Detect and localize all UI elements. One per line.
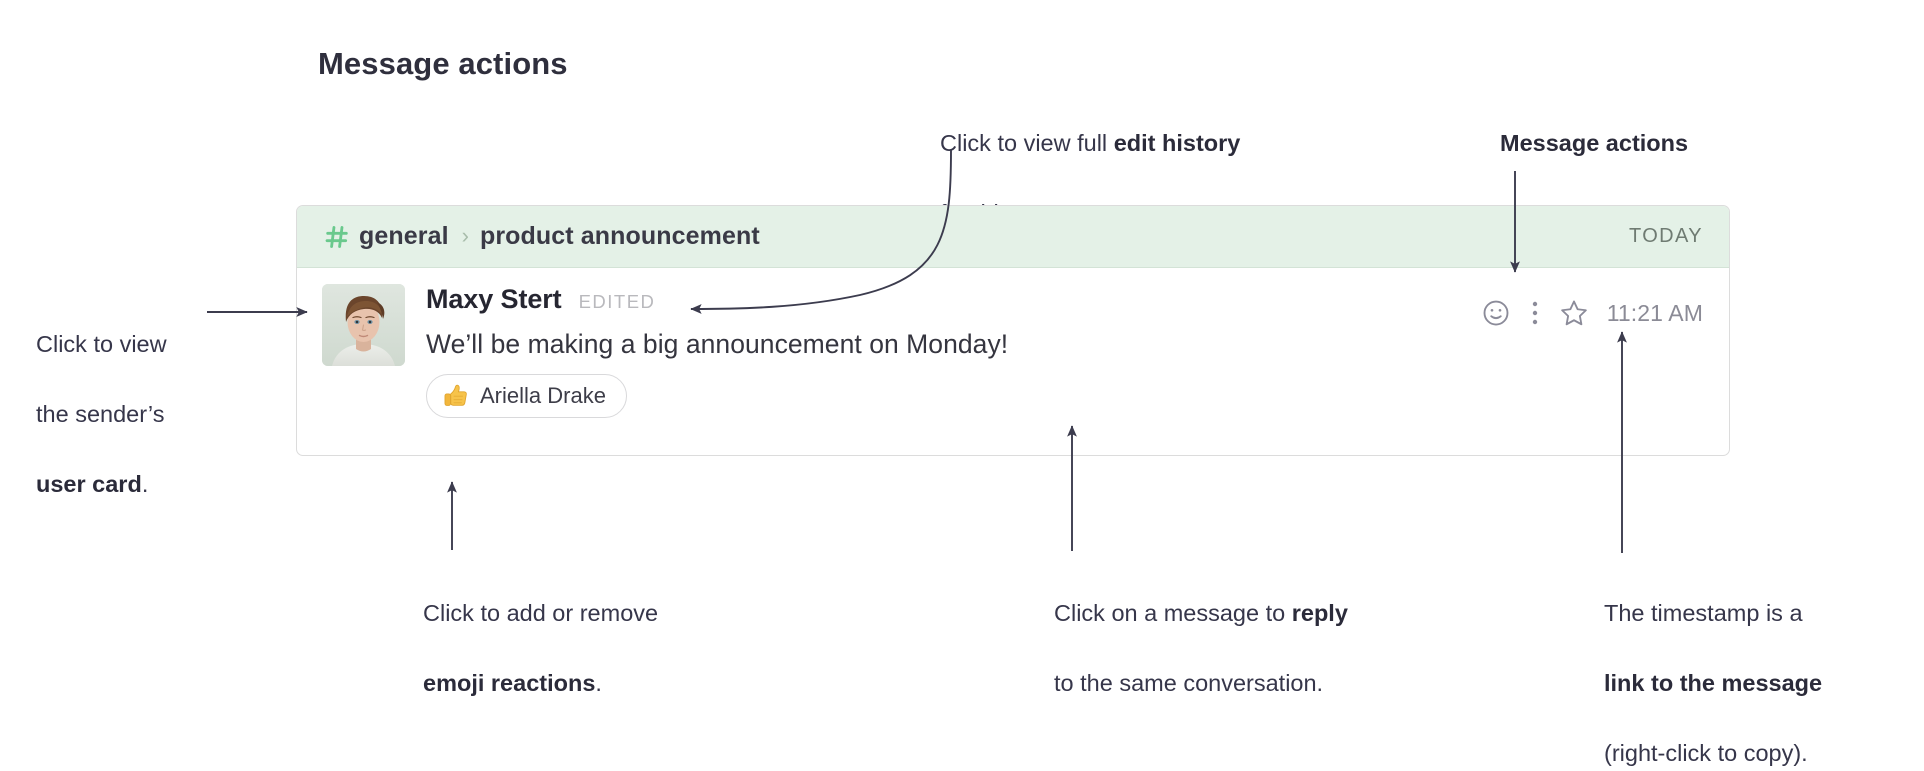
annotation-user-card-bold: user card: [36, 471, 142, 497]
annotation-emoji-reactions-tail: .: [595, 670, 602, 696]
annotation-timestamp-bold: link to the message: [1604, 670, 1822, 696]
annotation-reply-bold: reply: [1292, 600, 1348, 626]
annotation-timestamp-line3: (right-click to copy).: [1604, 740, 1808, 766]
breadcrumb-topic-name[interactable]: product announcement: [480, 222, 760, 251]
message-timestamp-link[interactable]: 11:21 AM: [1607, 300, 1703, 327]
message-row[interactable]: Maxy Stert EDITED We’ll be making a big …: [297, 268, 1729, 418]
annotation-user-card-line1: Click to view: [36, 331, 167, 357]
channel-header: general › product announcement TODAY: [297, 206, 1729, 268]
message-text[interactable]: We’ll be making a big announcement on Mo…: [426, 329, 1703, 360]
annotation-reply-lead: Click on a message to: [1054, 600, 1292, 626]
message-card[interactable]: general › product announcement TODAY: [296, 205, 1730, 456]
chevron-right-icon: ›: [462, 225, 469, 247]
avatar-portrait-icon: [322, 284, 405, 366]
sender-name[interactable]: Maxy Stert: [426, 284, 562, 315]
reaction-user-name: Ariella Drake: [480, 383, 606, 409]
annotation-user-card-tail: .: [142, 471, 149, 497]
annotation-user-card: Click to view the sender’s user card.: [36, 292, 276, 502]
thumbs-up-icon: [442, 382, 470, 410]
reaction-pill[interactable]: Ariella Drake: [426, 374, 627, 418]
page-title: Message actions: [318, 46, 568, 82]
annotation-reply: Click on a message to reply to the same …: [1054, 561, 1474, 701]
annotation-emoji-reactions: Click to add or remove emoji reactions.: [423, 561, 843, 701]
annotation-timestamp: The timestamp is a link to the message (…: [1604, 561, 1924, 771]
annotation-timestamp-line1: The timestamp is a: [1604, 600, 1803, 626]
annotation-emoji-reactions-bold: emoji reactions: [423, 670, 595, 696]
annotation-edit-history-bold: edit history: [1114, 130, 1241, 156]
annotation-reply-line2: to the same conversation.: [1054, 670, 1323, 696]
breadcrumb-channel-name[interactable]: general: [359, 222, 449, 251]
star-icon[interactable]: [1557, 296, 1591, 330]
annotation-edit-history-lead: Click to view full: [940, 130, 1114, 156]
annotation-emoji-reactions-line1: Click to add or remove: [423, 600, 658, 626]
more-actions-icon[interactable]: [1527, 296, 1543, 330]
message-action-cluster[interactable]: 11:21 AM: [1479, 296, 1703, 330]
edited-badge[interactable]: EDITED: [579, 291, 656, 313]
hash-icon: [324, 224, 350, 250]
annotation-user-card-line2: the sender’s: [36, 401, 164, 427]
emoji-picker-icon[interactable]: [1479, 296, 1513, 330]
day-label: TODAY: [1629, 225, 1703, 248]
avatar[interactable]: [322, 284, 405, 366]
annotation-message-actions-bold: Message actions: [1500, 130, 1688, 156]
